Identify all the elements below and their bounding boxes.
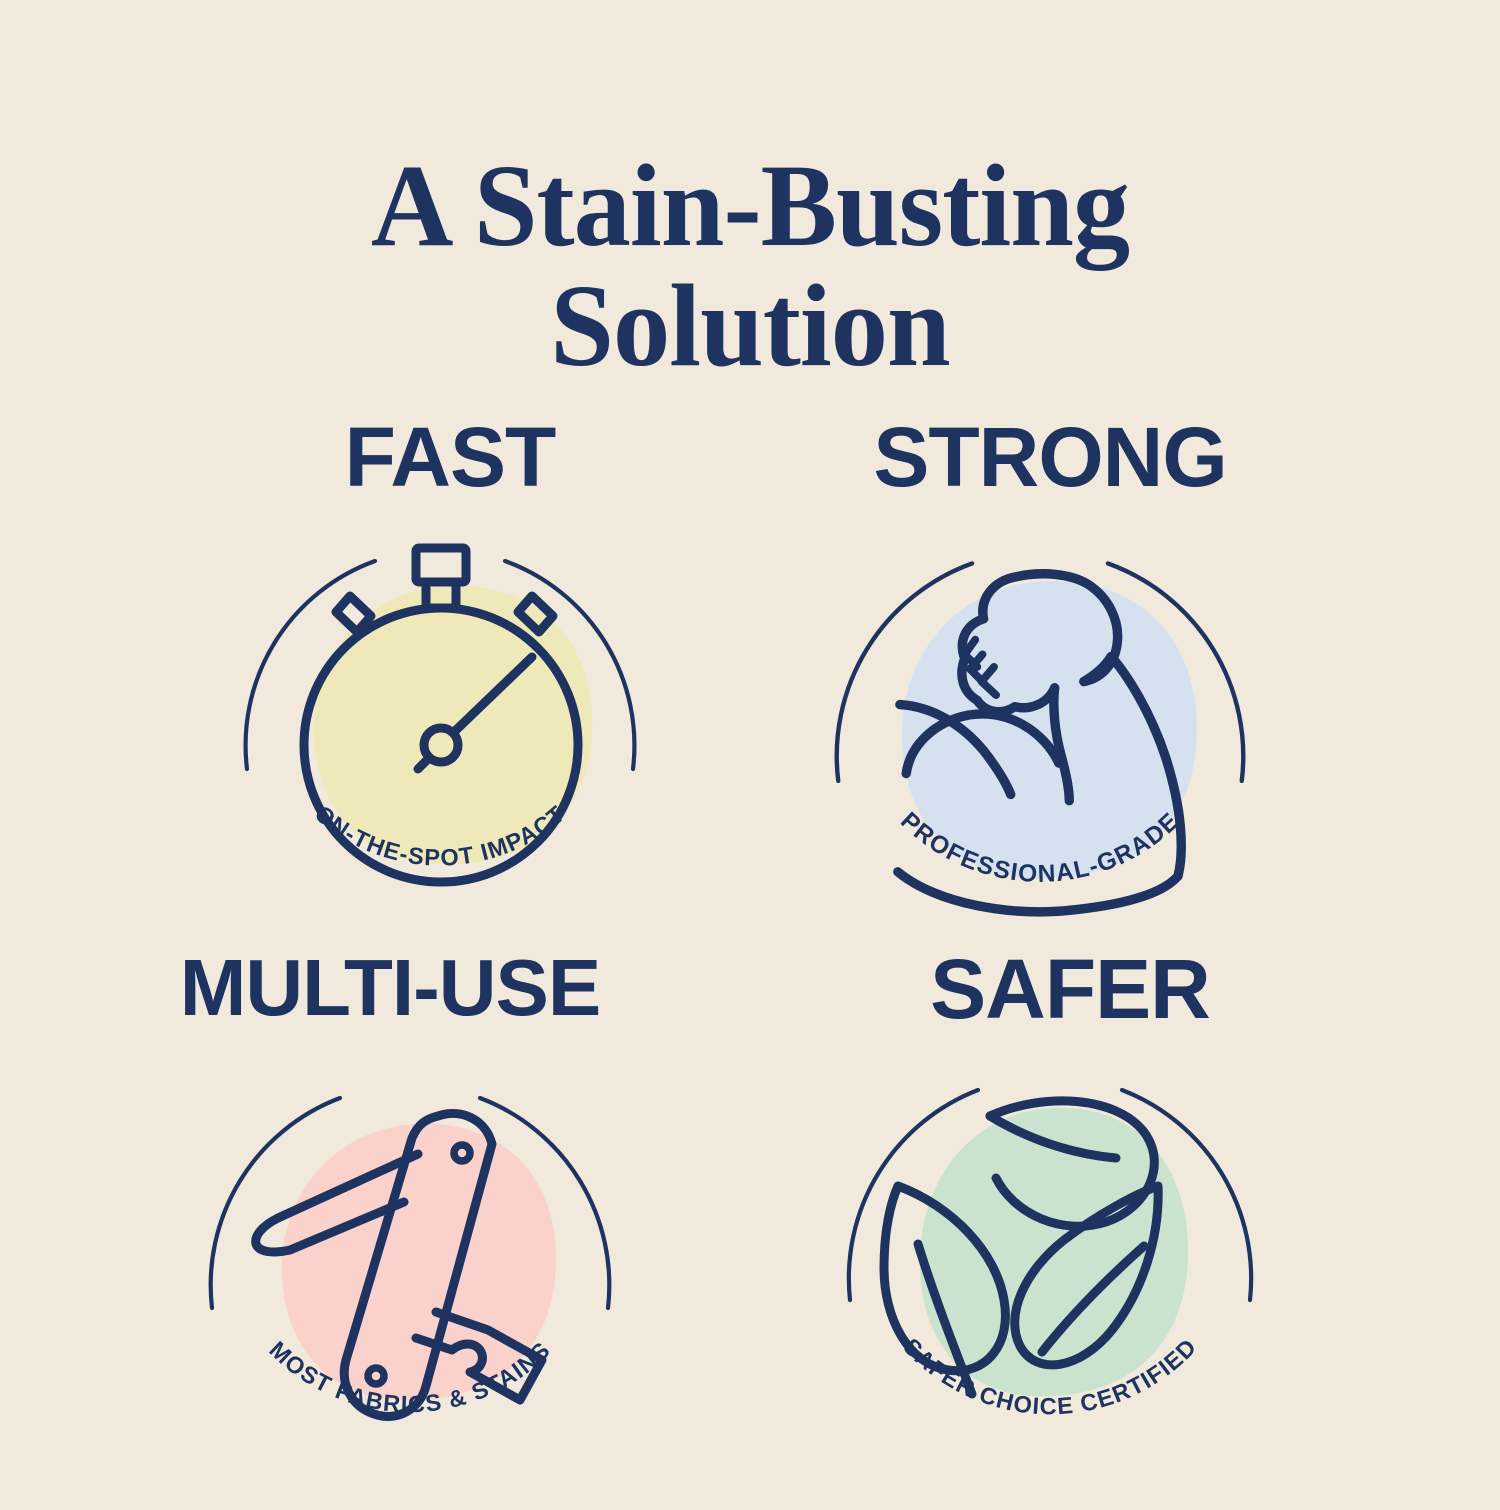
badge-heading-strong: STRONG [770, 418, 1330, 498]
benefit-badge-safer: SAFER [790, 950, 1350, 1510]
badge-mark-safer: SAFER CHOICE CERTIFIED [830, 1046, 1270, 1486]
page-title: A Stain-Busting Solution [0, 141, 1500, 391]
page-title-line-2: Solution [23, 261, 1478, 391]
badge-mark-fast: ON-THE-SPOT IMPACT [220, 508, 660, 948]
badge-heading-safer: SAFER [790, 950, 1350, 1030]
benefit-badge-strong: STRONG [770, 418, 1330, 978]
page-title-line-1: A Stain-Busting [23, 141, 1478, 271]
badge-mark-strong: PROFESSIONAL-GRADE [810, 508, 1270, 968]
badge-heading-multi-use: MULTI-USE [110, 950, 670, 1026]
benefit-badge-multi-use: MULTI-USE [110, 950, 670, 1510]
badge-heading-fast: FAST [170, 418, 730, 498]
benefit-badge-fast: FAST [170, 418, 730, 978]
badge-mark-multi-use: MOST FABRICS & STAINS [190, 1050, 630, 1490]
stain-busting-solution-poster: A Stain-Busting Solution FAST [0, 0, 1500, 1500]
